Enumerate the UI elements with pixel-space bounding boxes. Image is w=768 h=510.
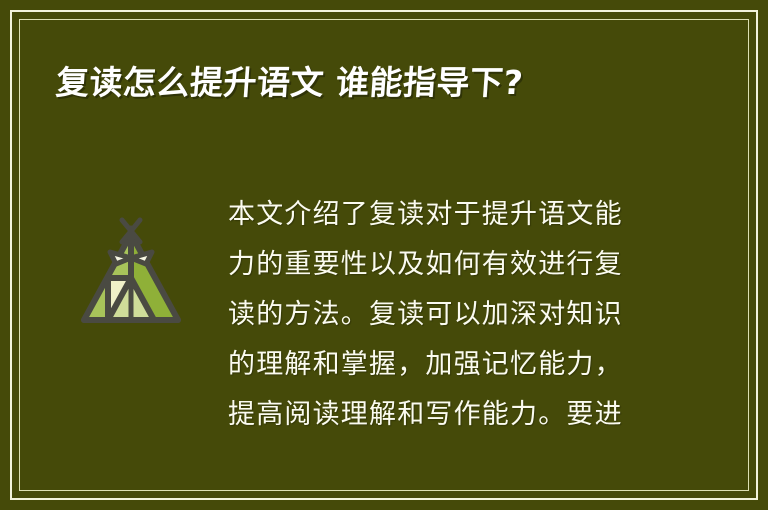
- summary-line: 提高阅读理解和写作能力。要进: [228, 390, 712, 440]
- summary-line: 力的重要性以及如何有效进行复: [228, 240, 712, 290]
- article-cover-banner: 复读怎么提升语文 谁能指导下?: [0, 0, 768, 510]
- summary-line: 的理解和掌握，加强记忆能力，: [228, 340, 712, 390]
- summary-line: 本文介绍了复读对于提升语文能: [228, 190, 712, 240]
- content-row: 本文介绍了复读对于提升语文能 力的重要性以及如何有效进行复 读的方法。复读可以加…: [56, 190, 712, 470]
- teepee-tent-icon: [70, 212, 192, 334]
- article-summary: 本文介绍了复读对于提升语文能 力的重要性以及如何有效进行复 读的方法。复读可以加…: [206, 190, 712, 440]
- page-title: 复读怎么提升语文 谁能指导下?: [55, 64, 698, 102]
- summary-line: 读的方法。复读可以加深对知识: [228, 290, 712, 340]
- illustration-container: [56, 190, 206, 334]
